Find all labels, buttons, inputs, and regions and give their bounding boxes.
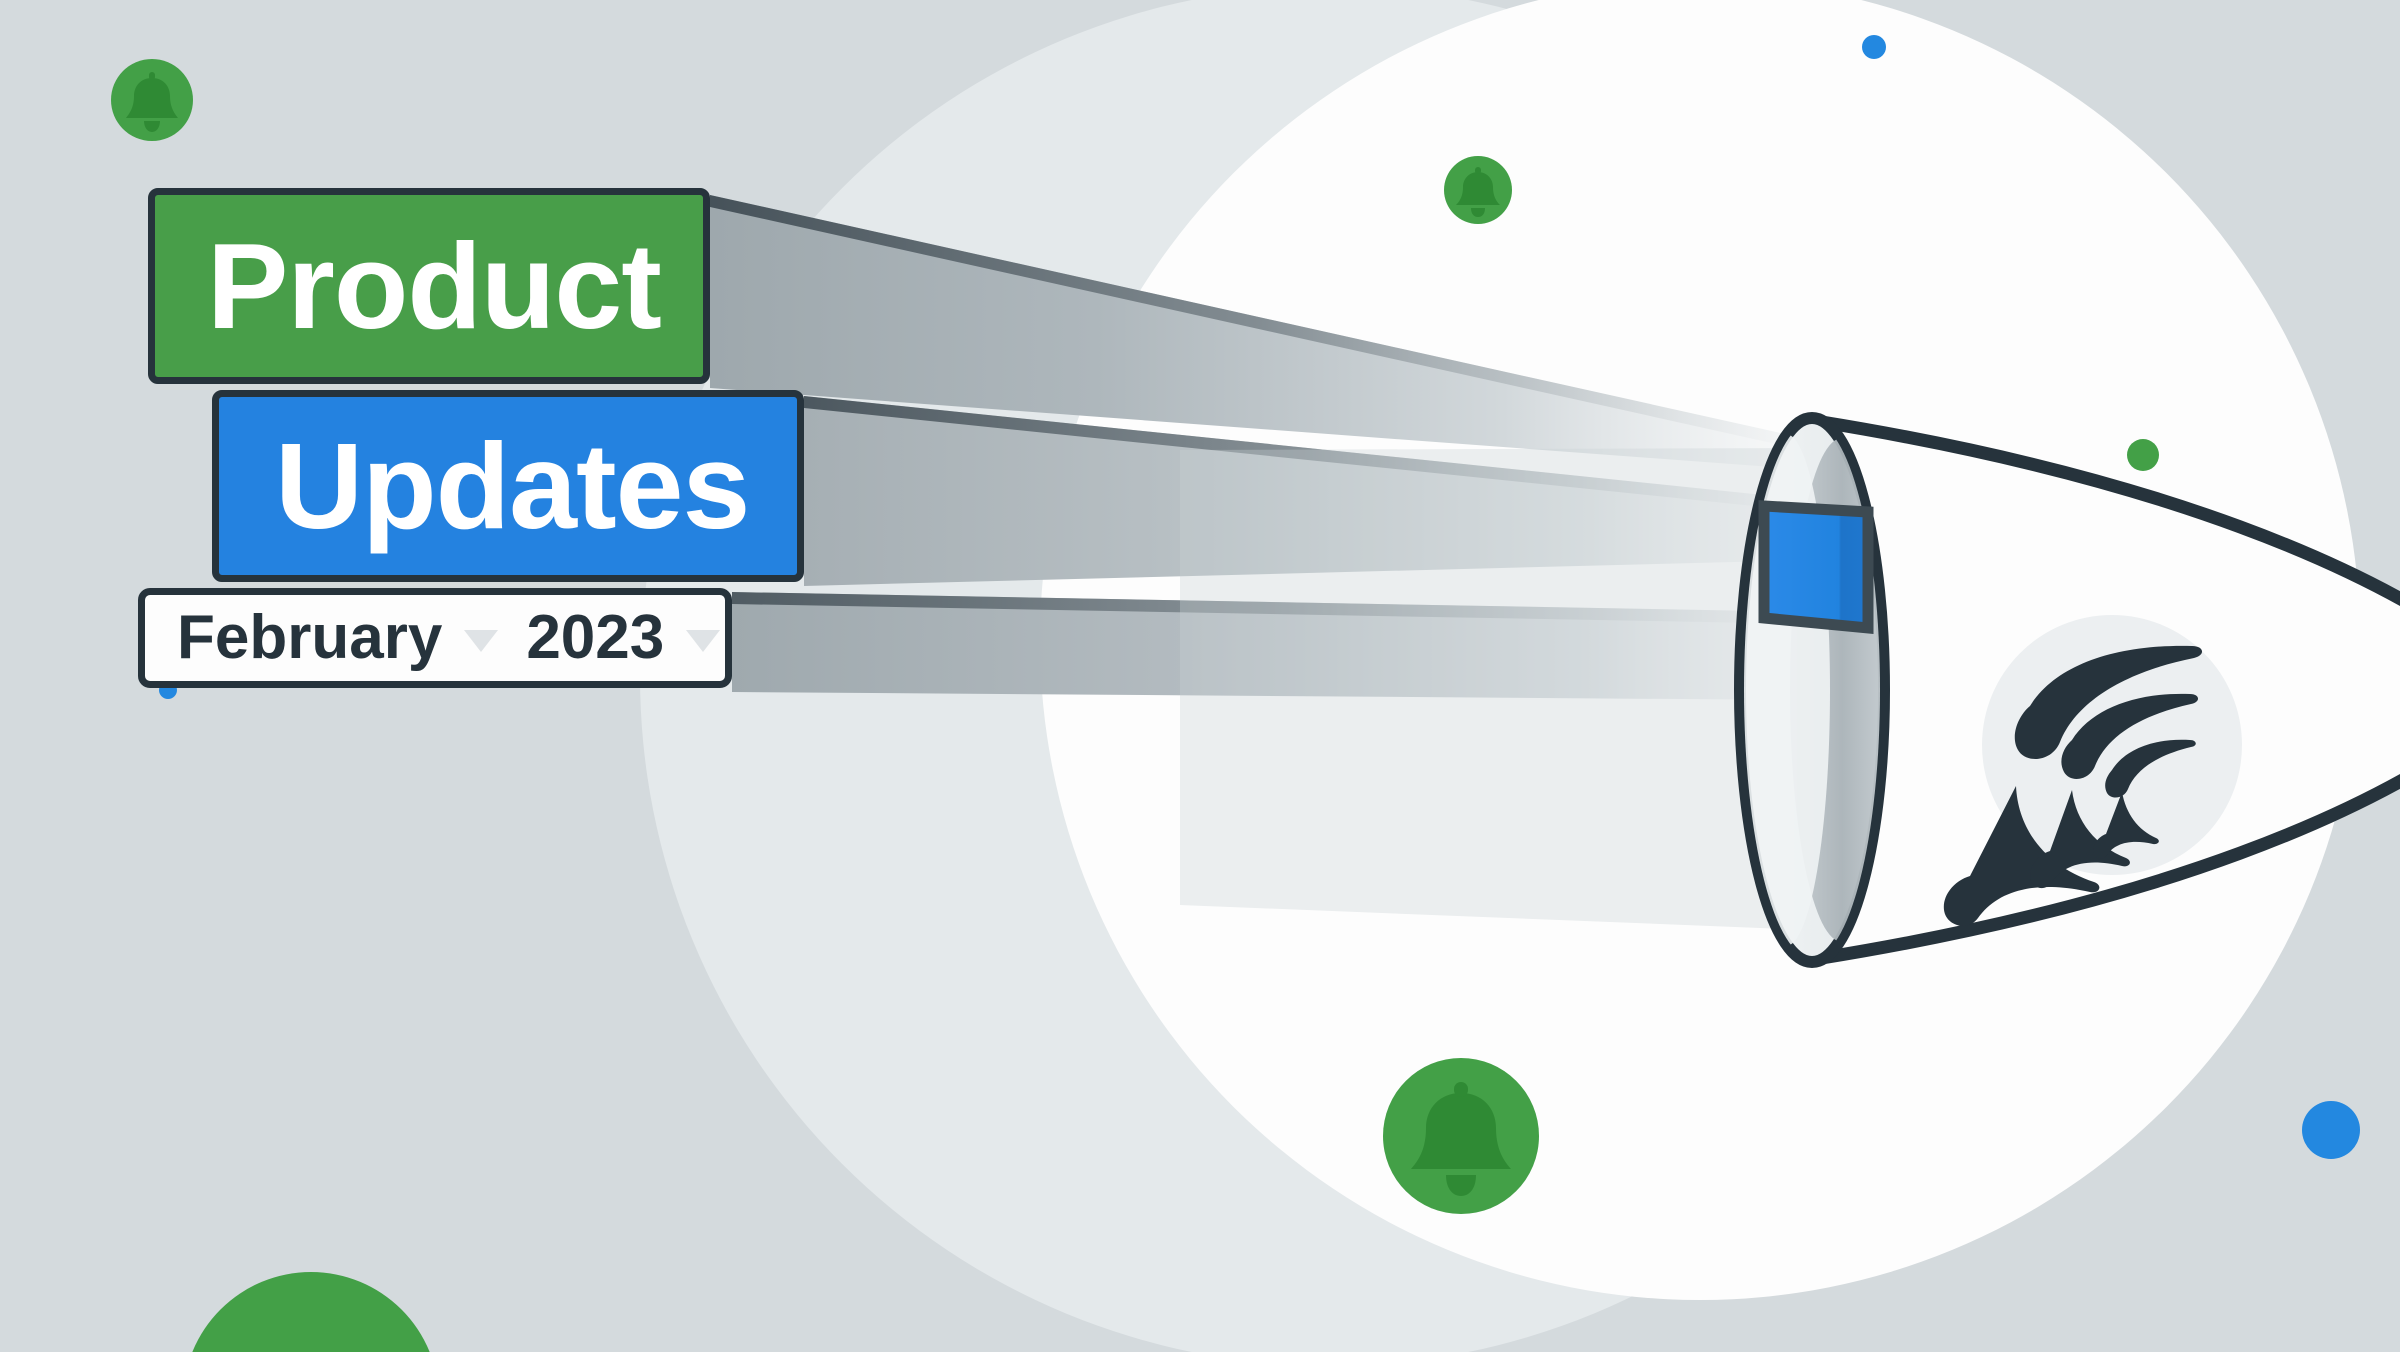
badge-updates: Updates [212,390,804,582]
beam-glow [1180,448,1812,930]
chevron-down-icon-month[interactable] [464,630,498,652]
badge-product-label: Product [207,225,661,347]
bell-badge-bottom [1383,1058,1539,1214]
chevron-down-icon-year[interactable] [686,630,720,652]
month-label: February [177,607,442,669]
blue-dot-small-top [1862,35,1886,59]
badge-updates-label: Updates [275,425,749,547]
megaphone-blue-band [1764,506,1868,628]
month-dropdown[interactable]: February [177,607,498,669]
green-dot-on-cone [2127,439,2159,471]
hero-banner: Product Updates February 2023 [0,0,2400,1352]
blue-dot-large-right [2302,1101,2360,1159]
badge-date-selector: February 2023 [138,588,732,688]
bell-badge-mid-top [1444,156,1512,224]
year-dropdown[interactable]: 2023 [526,607,720,669]
bell-badge-top-left [111,59,193,141]
year-label: 2023 [526,607,664,669]
badge-product: Product [148,188,710,384]
